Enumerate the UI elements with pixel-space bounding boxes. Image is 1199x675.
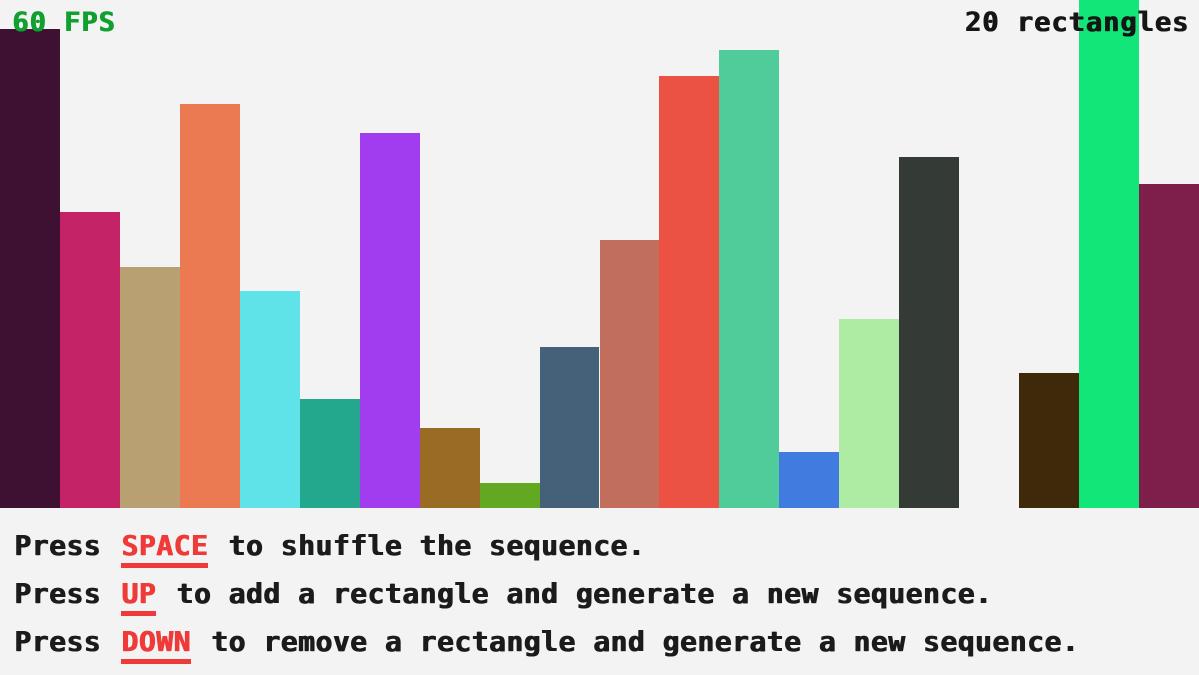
instruction-suffix: to add a rectangle and generate a new se… (159, 577, 992, 610)
bar-15 (839, 319, 899, 508)
key-down[interactable]: DOWN (121, 625, 190, 664)
bar-14 (779, 452, 839, 508)
bar-2 (60, 212, 120, 508)
instruction-line-shuffle: Press SPACE to shuffle the sequence. (14, 529, 645, 562)
bar-16 (899, 157, 959, 508)
fps-counter: 60 FPS (12, 7, 116, 38)
instruction-line-add: Press UP to add a rectangle and generate… (14, 577, 992, 610)
rectangle-count-label: 20 rectangles (965, 7, 1189, 38)
bar-7 (360, 133, 420, 508)
bar-19 (1079, 0, 1139, 508)
instruction-line-remove: Press DOWN to remove a rectangle and gen… (14, 625, 1079, 658)
bar-10 (540, 347, 600, 508)
bar-9 (480, 483, 540, 508)
key-up[interactable]: UP (121, 577, 156, 616)
bar-5 (240, 291, 300, 508)
instruction-suffix: to remove a rectangle and generate a new… (194, 625, 1079, 658)
bar-18 (1019, 373, 1079, 508)
instruction-prefix: Press (14, 625, 118, 658)
bar-20 (1139, 184, 1199, 508)
instructions-panel: Press SPACE to shuffle the sequence. Pre… (0, 509, 1199, 675)
app-window: 60 FPS 20 rectangles Press SPACE to shuf… (0, 0, 1199, 675)
bar-chart-canvas (0, 0, 1199, 509)
bar-11 (600, 240, 660, 508)
bar-8 (420, 428, 480, 508)
bar-1 (0, 29, 60, 508)
bar-12 (659, 76, 719, 508)
bar-3 (120, 267, 180, 508)
bar-6 (300, 399, 360, 508)
key-space[interactable]: SPACE (121, 529, 208, 568)
instruction-prefix: Press (14, 529, 118, 562)
instruction-prefix: Press (14, 577, 118, 610)
bar-13 (719, 50, 779, 508)
bar-4 (180, 104, 240, 508)
instruction-suffix: to shuffle the sequence. (211, 529, 645, 562)
